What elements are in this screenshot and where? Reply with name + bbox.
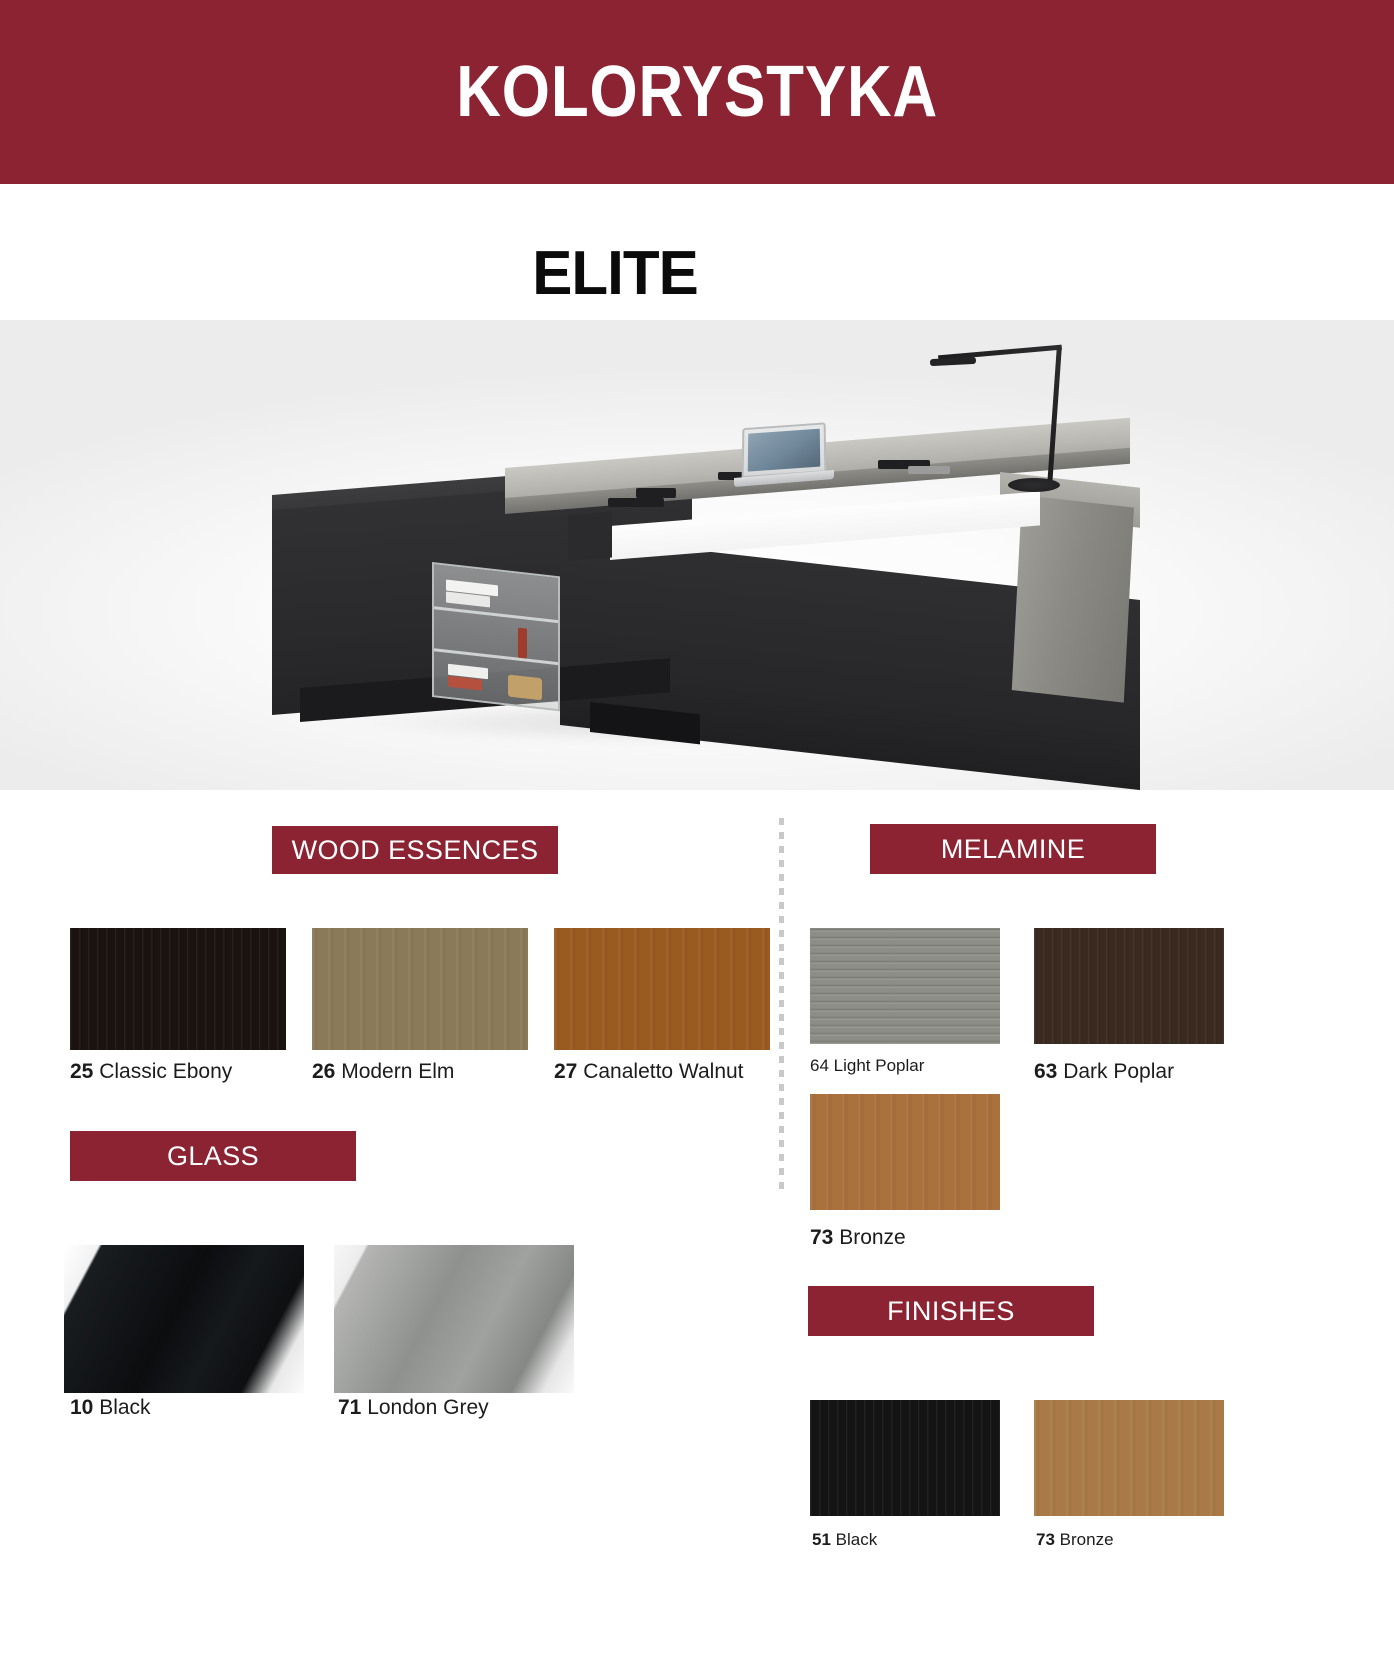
- product-photo: [0, 320, 1394, 790]
- section-header-melamine: MELAMINE: [870, 824, 1156, 874]
- swatch-color-fill: [64, 1245, 304, 1393]
- swatch-label-10: 10 Black: [70, 1396, 151, 1420]
- section-title-text: MELAMINE: [941, 834, 1085, 865]
- swatch-73-bronze-melamine[interactable]: [810, 1094, 1000, 1210]
- swatch-name: London Grey: [367, 1396, 488, 1419]
- swatch-color-fill: [810, 1094, 1000, 1210]
- swatch-color-fill: [312, 928, 528, 1050]
- swatch-color-fill: [1034, 928, 1224, 1044]
- swatch-label-51: 51 Black: [812, 1530, 877, 1550]
- swatch-71-london-grey-glass[interactable]: [334, 1245, 574, 1393]
- section-title-text: FINISHES: [887, 1296, 1015, 1327]
- swatch-label-26: 26 Modern Elm: [312, 1060, 454, 1084]
- shelf-book: [518, 628, 527, 659]
- swatch-label-64: 64 Light Poplar: [810, 1056, 924, 1076]
- swatch-label-73-finish: 73 Bronze: [1036, 1530, 1114, 1550]
- swatch-code: 10: [70, 1396, 93, 1419]
- glass-shelf-unit: [432, 562, 560, 711]
- swatch-code: 63: [1034, 1060, 1057, 1083]
- swatch-code: 25: [70, 1060, 93, 1083]
- desk-accessory-tray: [608, 498, 664, 507]
- swatch-label-73-melamine: 73 Bronze: [810, 1226, 906, 1250]
- section-header-finishes: FINISHES: [808, 1286, 1094, 1336]
- swatch-code: 73: [1036, 1530, 1055, 1549]
- swatch-name: Black: [99, 1396, 150, 1419]
- swatch-10-black-glass[interactable]: [64, 1245, 304, 1393]
- swatch-color-fill: [810, 928, 1000, 1044]
- swatch-name: Classic Ebony: [99, 1060, 232, 1083]
- swatch-name: Black: [836, 1530, 878, 1549]
- swatch-name: Dark Poplar: [1063, 1060, 1174, 1083]
- desk-accessory-pad: [636, 488, 676, 498]
- swatch-color-fill: [334, 1245, 574, 1393]
- swatch-label-27: 27 Canaletto Walnut: [554, 1060, 744, 1084]
- swatch-51-black-finish[interactable]: [810, 1400, 1000, 1516]
- shelf-divider: [434, 648, 560, 665]
- swatch-label-71: 71 London Grey: [338, 1396, 489, 1420]
- swatch-name: Modern Elm: [341, 1060, 454, 1083]
- laptop-display: [748, 429, 820, 472]
- page-title: KOLORYSTYKA: [456, 51, 938, 133]
- product-name: ELITE: [18, 238, 1211, 309]
- colour-chart-page: KOLORYSTYKA ELITE: [0, 0, 1394, 1659]
- swatch-name: Canaletto Walnut: [583, 1060, 743, 1083]
- swatch-25-classic-ebony[interactable]: [70, 928, 286, 1050]
- swatch-code: 64: [810, 1056, 829, 1075]
- swatch-color-fill: [810, 1400, 1000, 1516]
- swatch-code: 26: [312, 1060, 335, 1083]
- desk-support-bracket: [568, 511, 612, 561]
- swatch-26-modern-elm[interactable]: [312, 928, 528, 1050]
- shelf-divider: [434, 606, 560, 623]
- swatch-64-light-poplar[interactable]: [810, 928, 1000, 1044]
- swatch-name: Bronze: [1060, 1530, 1114, 1549]
- section-header-wood-essences: WOOD ESSENCES: [272, 826, 558, 874]
- shelf-object: [508, 675, 542, 701]
- swatch-name: Bronze: [839, 1226, 906, 1249]
- swatch-color-fill: [70, 928, 286, 1050]
- desk-lamp-base: [1008, 478, 1060, 492]
- swatch-color-fill: [554, 928, 770, 1050]
- section-title-text: WOOD ESSENCES: [292, 835, 539, 866]
- section-header-glass: GLASS: [70, 1131, 356, 1181]
- laptop-screen: [742, 422, 827, 478]
- desk-accessory-paper: [908, 466, 950, 474]
- swatch-27-canaletto-walnut[interactable]: [554, 928, 770, 1050]
- swatch-73-bronze-finish[interactable]: [1034, 1400, 1224, 1516]
- swatch-63-dark-poplar[interactable]: [1034, 928, 1224, 1044]
- swatch-code: 71: [338, 1396, 361, 1419]
- swatch-label-25: 25 Classic Ebony: [70, 1060, 232, 1084]
- swatch-code: 73: [810, 1226, 833, 1249]
- swatch-color-fill: [1034, 1400, 1224, 1516]
- swatch-label-63: 63 Dark Poplar: [1034, 1060, 1174, 1084]
- swatch-code: 27: [554, 1060, 577, 1083]
- swatch-name: Light Poplar: [834, 1056, 925, 1075]
- swatch-code: 51: [812, 1530, 831, 1549]
- page-header-banner: KOLORYSTYKA: [0, 0, 1394, 184]
- column-divider: [779, 818, 784, 1190]
- section-title-text: GLASS: [167, 1141, 259, 1172]
